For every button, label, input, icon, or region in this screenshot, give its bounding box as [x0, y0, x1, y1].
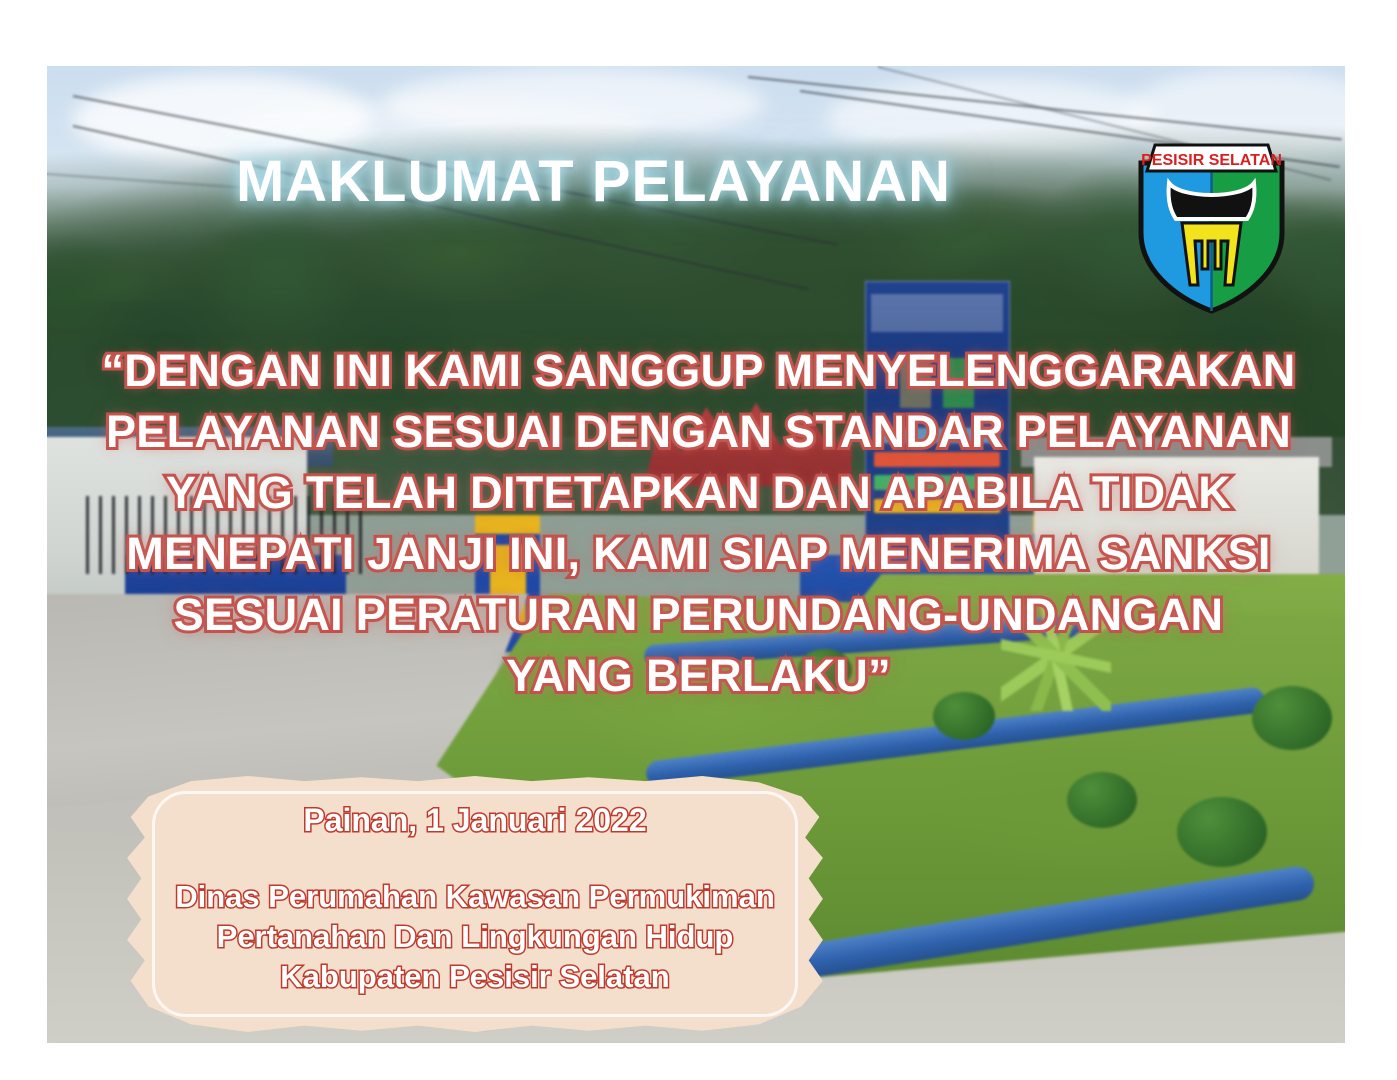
pledge-line: SESUAI PERATURAN PERUNDANG-UNDANGAN: [60, 584, 1337, 645]
plaque-date: Painan, 1 Januari 2022: [303, 802, 646, 839]
pledge-statement: “DENGAN INI KAMI SANGGUP MENYELENGGARAKA…: [60, 340, 1337, 706]
organization-line: Pertanahan Dan Lingkungan Hidup: [175, 917, 775, 957]
pledge-line: YANG BERLAKU”: [60, 645, 1337, 706]
pledge-line: YANG TELAH DITETAPKAN DAN APABILA TIDAK: [60, 462, 1337, 523]
pledge-line: PELAYANAN SESUAI DENGAN STANDAR PELAYANA…: [60, 401, 1337, 462]
banner-text: PESISIR SELATAN: [1141, 152, 1282, 169]
pledge-line: MENEPATI JANJI INI, KAMI SIAP MENERIMA S…: [60, 523, 1337, 584]
pledge-line: “DENGAN INI KAMI SANGGUP MENYELENGGARAKA…: [60, 340, 1337, 401]
poster-canvas: MAKLUMAT PELAYANAN “DENGAN INI KAMI SANG…: [0, 0, 1397, 1080]
pesisir-selatan-shield-logo: PESISIR SELATAN: [1129, 137, 1294, 317]
text-overlay: MAKLUMAT PELAYANAN “DENGAN INI KAMI SANG…: [0, 0, 1397, 1080]
plaque-organization: Dinas Perumahan Kawasan Permukiman Perta…: [175, 877, 775, 997]
signature-plaque: Painan, 1 Januari 2022 Dinas Perumahan K…: [120, 776, 830, 1032]
plaque-content: Painan, 1 Januari 2022 Dinas Perumahan K…: [120, 776, 830, 1032]
organization-line: Kabupaten Pesisir Selatan: [175, 957, 775, 997]
organization-line: Dinas Perumahan Kawasan Permukiman: [175, 877, 775, 917]
